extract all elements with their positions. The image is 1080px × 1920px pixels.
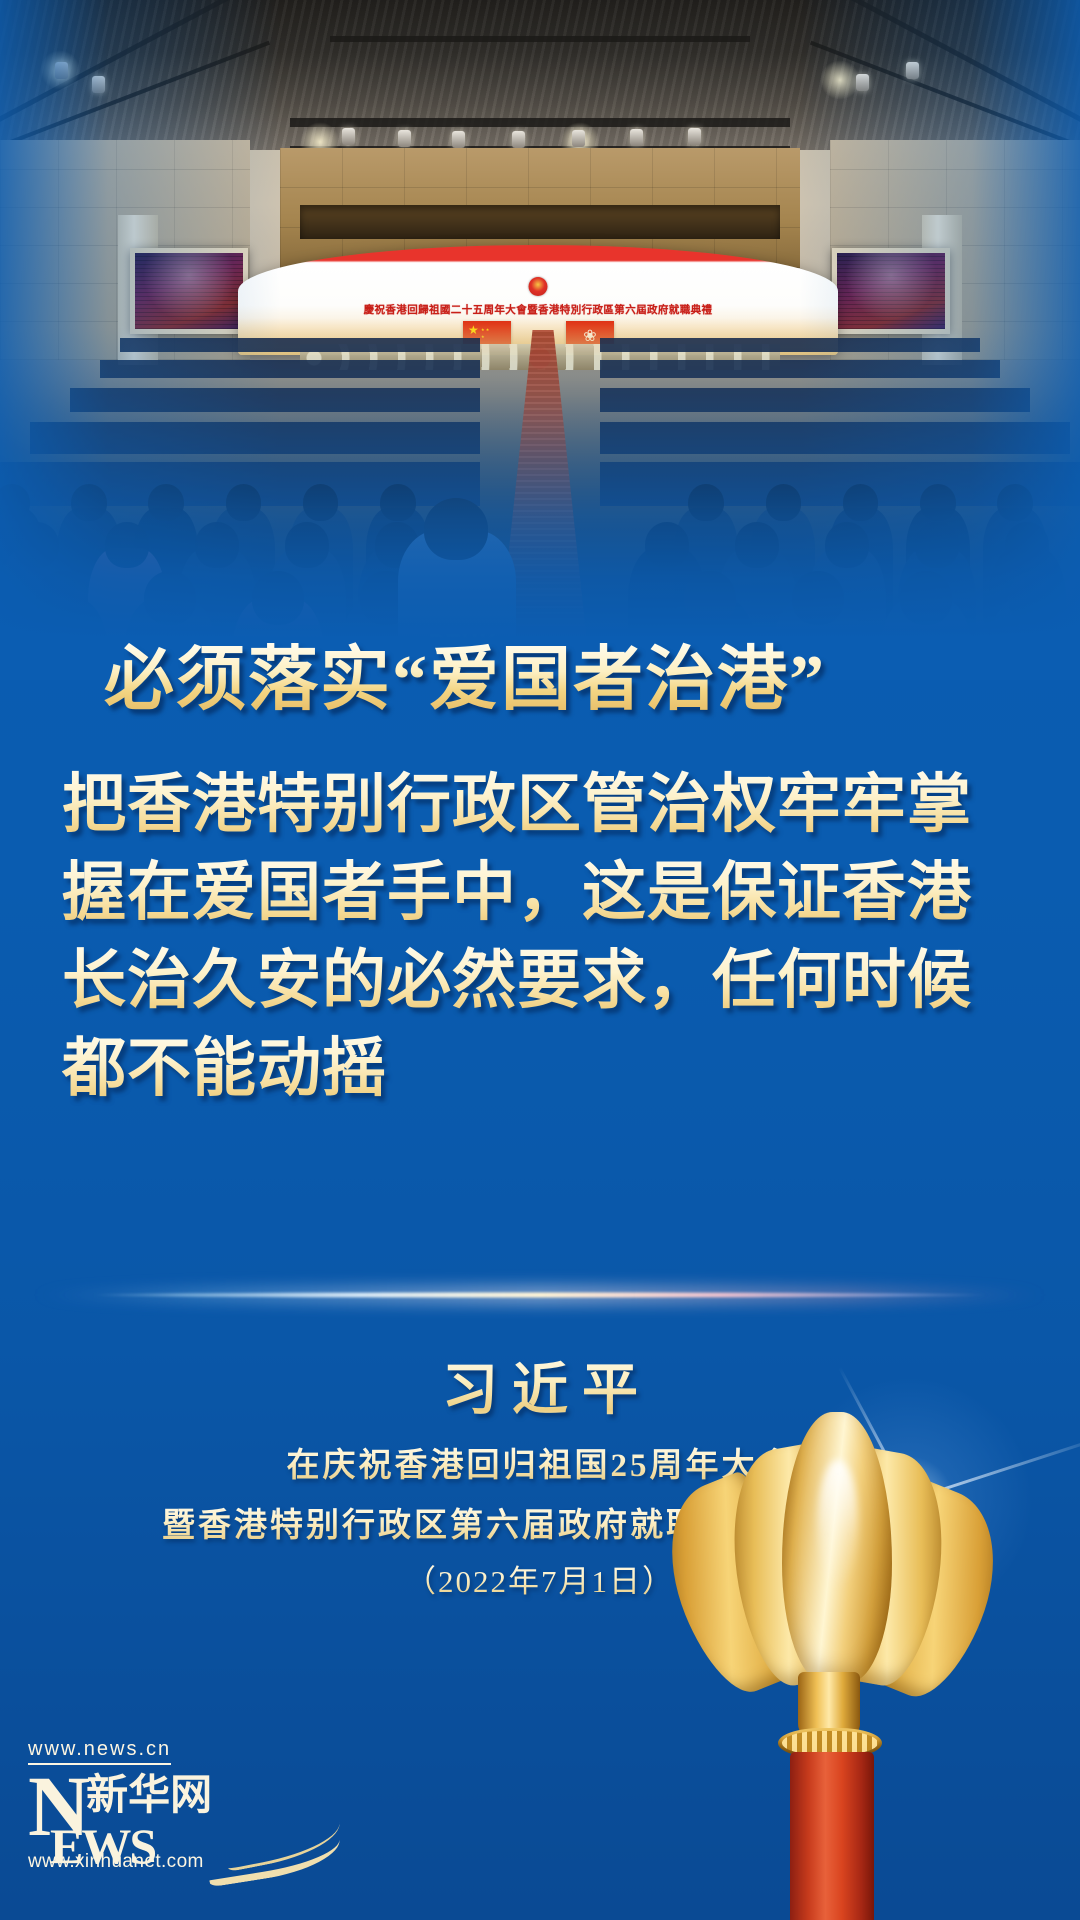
attribution-block: 习近平 在庆祝香港回归祖国25周年大会 暨香港特别行政区第六届政府就职典礼上的讲…	[0, 1345, 1080, 1601]
logo-chinese-name: 新华网	[86, 1773, 212, 1819]
logo-mark: N 新华网 EWS	[28, 1769, 358, 1843]
page-headline: 必须落实“爱国者治港”	[0, 640, 1080, 723]
speaker-name: 习近平	[0, 1345, 1080, 1426]
occasion-line-1: 在庆祝香港回归祖国25周年大会	[0, 1438, 1080, 1486]
xinhua-logo[interactable]: www.news.cn N 新华网 EWS www.xinhuanet.com	[28, 1738, 358, 1868]
section-divider	[0, 1282, 1080, 1308]
quote-body: 把香港特别行政区管治权牢牢掌 握在爱国者手中，这是保证香港 长治久安的必然要求，…	[0, 761, 1080, 1113]
text-content: 必须落实“爱国者治港” 把香港特别行政区管治权牢牢掌 握在爱国者手中，这是保证香…	[0, 640, 1080, 1113]
photo-fade-overlay	[0, 0, 1080, 680]
quote-line: 长治久安的必然要求，任何时候	[62, 937, 1080, 1025]
logo-news-text: EWS	[50, 1821, 155, 1871]
event-photo: 慶祝香港回歸祖國二十五周年大會暨香港特別行政區第六屆政府就職典禮 ❀	[0, 0, 1080, 680]
quote-line: 都不能动摇	[62, 1025, 1080, 1113]
quote-line: 把香港特别行政区管治权牢牢掌	[62, 761, 1080, 849]
divider-core	[90, 1293, 990, 1298]
divider-halo	[30, 1285, 1050, 1305]
bauhinia-collar	[778, 1728, 882, 1758]
speech-date: （2022年7月1日）	[0, 1556, 1080, 1601]
occasion-line-2: 暨香港特别行政区第六届政府就职典礼上的讲话	[0, 1498, 1080, 1546]
bauhinia-stem	[798, 1672, 860, 1738]
bauhinia-pedestal	[790, 1752, 874, 1920]
poster-root: 慶祝香港回歸祖國二十五周年大會暨香港特別行政區第六屆政府就職典禮 ❀	[0, 0, 1080, 1920]
quote-line: 握在爱国者手中，这是保证香港	[62, 849, 1080, 937]
